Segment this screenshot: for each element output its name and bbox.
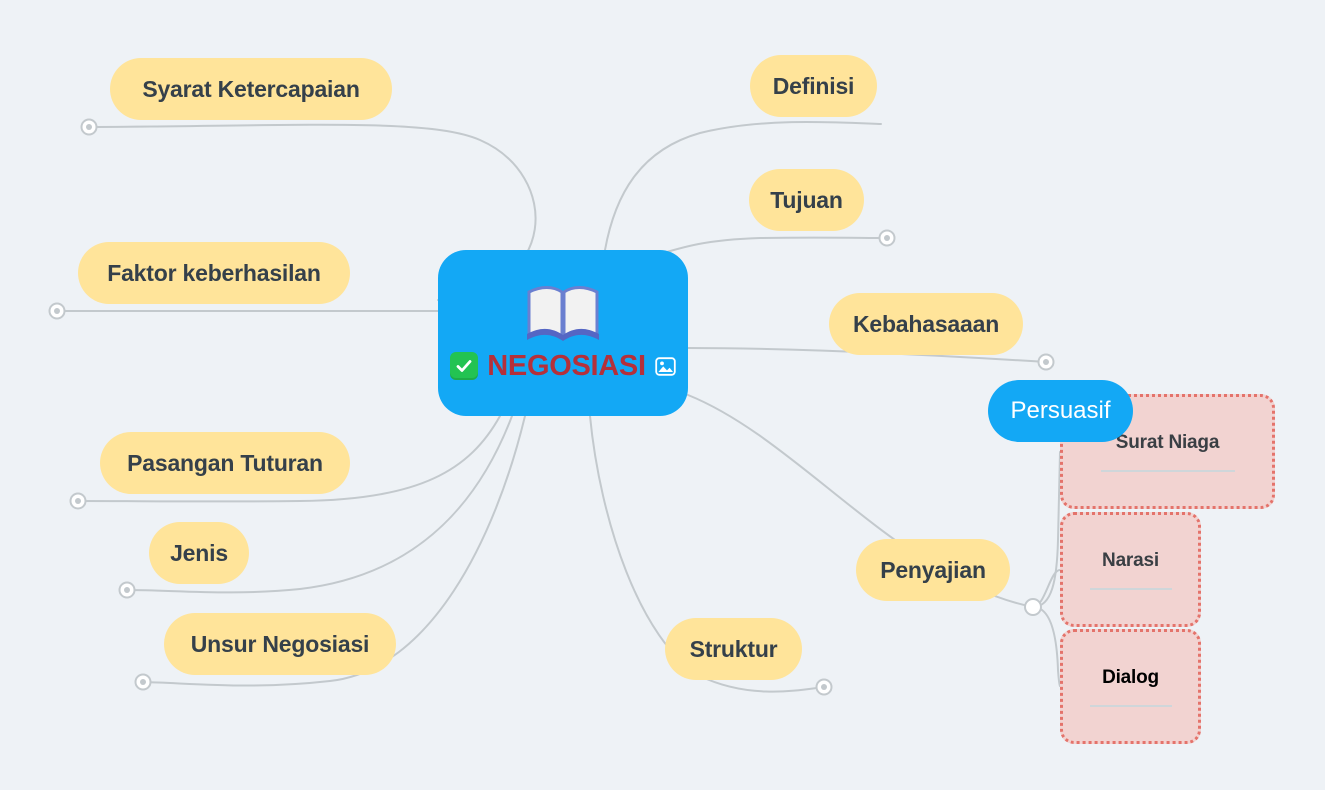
picture-icon[interactable] — [655, 357, 676, 376]
subtopic-underline — [1090, 705, 1172, 707]
connector-dot-icon[interactable] — [120, 583, 135, 598]
expand-toggle-icon[interactable] — [1025, 599, 1041, 615]
root-title: NEGOSIASI — [487, 350, 645, 383]
topic-label: Struktur — [690, 636, 778, 663]
subtopic-node[interactable]: Dialog — [1060, 629, 1201, 744]
topic-label: Pasangan Tuturan — [127, 450, 323, 477]
connector-dot-icon[interactable] — [136, 675, 151, 690]
topic-node[interactable]: Kebahasaaan — [829, 293, 1023, 355]
subtopic-label: Narasi — [1102, 550, 1159, 572]
topic-label: Tujuan — [770, 187, 842, 214]
topic-label: Syarat Ketercapaian — [142, 76, 359, 103]
edge-path — [1033, 452, 1060, 607]
root-node[interactable]: NEGOSIASI — [438, 250, 688, 416]
topic-node[interactable]: Definisi — [750, 55, 877, 117]
white-check-mark-icon — [450, 352, 478, 380]
topic-label: Faktor keberhasilan — [107, 260, 321, 287]
topic-node[interactable]: Syarat Ketercapaian — [110, 58, 392, 120]
connector-dot-core — [140, 679, 146, 685]
topic-label: Kebahasaaan — [853, 311, 999, 338]
connector-dot-icon[interactable] — [880, 231, 895, 246]
connector-dot-icon[interactable] — [50, 304, 65, 319]
topic-node[interactable]: Pasangan Tuturan — [100, 432, 350, 494]
subtopic-underline — [1090, 588, 1172, 590]
topic-node[interactable]: Jenis — [149, 522, 249, 584]
open-book-icon — [525, 282, 601, 344]
connector-dot-core — [124, 587, 130, 593]
topic-node[interactable]: Tujuan — [749, 169, 864, 231]
subtopic-label: Surat Niaga — [1116, 432, 1219, 454]
connector-dot-core — [54, 308, 60, 314]
topic-node[interactable]: Struktur — [665, 618, 802, 680]
root-title-row: NEGOSIASI — [450, 350, 675, 383]
connector-dot-icon[interactable] — [71, 494, 86, 509]
topic-label: Jenis — [170, 540, 228, 567]
connector-dot-core — [821, 684, 827, 690]
topic-label: Unsur Negosiasi — [191, 631, 370, 658]
connector-dot-icon[interactable] — [817, 680, 832, 695]
node-persuasif[interactable]: Persuasif — [988, 380, 1133, 442]
connector-dot-core — [75, 498, 81, 504]
node-persuasif-label: Persuasif — [1010, 397, 1110, 425]
subtopic-label: Dialog — [1102, 667, 1159, 689]
topic-node[interactable]: Unsur Negosiasi — [164, 613, 396, 675]
subtopic-node[interactable]: Narasi — [1060, 512, 1201, 627]
topic-node[interactable]: Faktor keberhasilan — [78, 242, 350, 304]
edge-path — [1033, 570, 1060, 607]
connector-dot-core — [1043, 359, 1049, 365]
topic-label: Penyajian — [880, 557, 986, 584]
connector-dot-core — [86, 124, 92, 130]
connector-dot-icon[interactable] — [1039, 355, 1054, 370]
connector-dot-icon[interactable] — [82, 120, 97, 135]
topic-node[interactable]: Penyajian — [856, 539, 1010, 601]
edge-path — [1033, 607, 1060, 686]
mindmap-canvas: NEGOSIASI Syarat KetercapaianFaktor kebe… — [0, 0, 1325, 790]
topic-label: Definisi — [773, 73, 854, 100]
subtopic-underline — [1101, 470, 1235, 472]
connector-dot-core — [884, 235, 890, 241]
